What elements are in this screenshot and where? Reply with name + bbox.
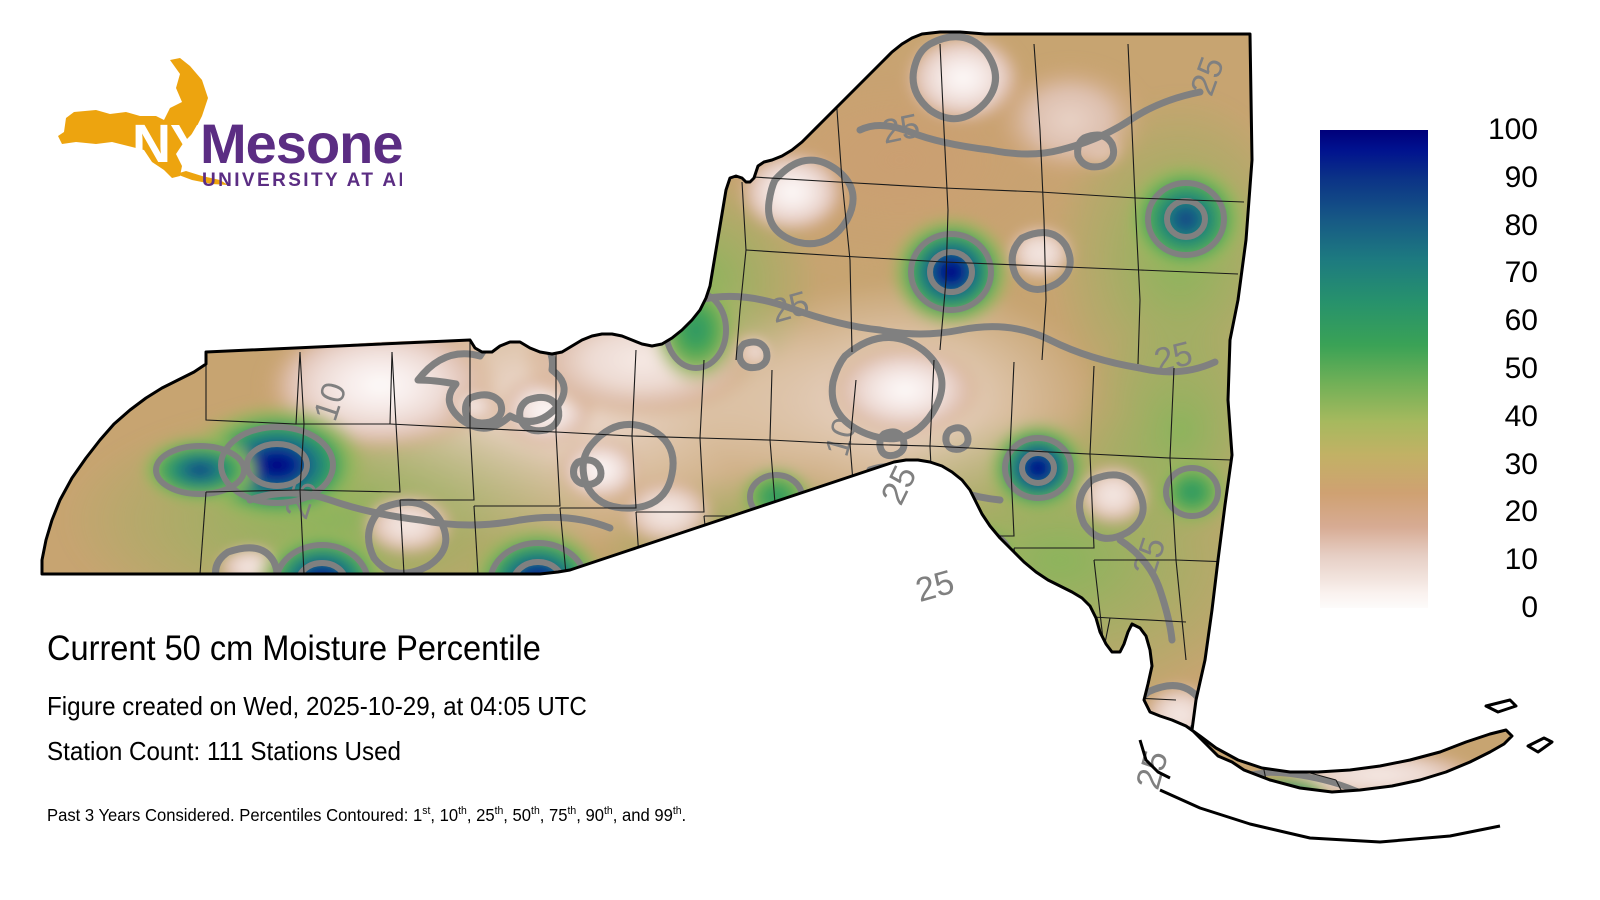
footnote-percentile-1: 1 bbox=[413, 805, 422, 825]
caption-block: Current 50 cm Moisture Percentile Figure… bbox=[47, 628, 1027, 826]
footnote-line: Past 3 Years Considered. Percentiles Con… bbox=[47, 800, 978, 826]
colorbar-tick-70: 70 bbox=[1505, 258, 1538, 288]
footnote-ordinal-st-0: st bbox=[422, 805, 430, 817]
footnote-percentile-90: 90 bbox=[585, 805, 603, 825]
footnote-ordinal-th-5: th bbox=[604, 805, 613, 817]
percentile-colorbar: 1009080706050403020100 bbox=[1320, 130, 1428, 608]
contour-label-25-0: 25 bbox=[878, 107, 923, 152]
colorbar-gradient bbox=[1320, 130, 1428, 608]
footnote-ordinal-th-3: th bbox=[531, 805, 540, 817]
contour-label-25-9: 25 bbox=[912, 563, 959, 610]
footnote-percentile-50: 50 bbox=[513, 805, 531, 825]
footnote-ordinal-th-4: th bbox=[568, 805, 577, 817]
colorbar-tick-50: 50 bbox=[1505, 354, 1538, 384]
footnote-ordinal-th-1: th bbox=[458, 805, 467, 817]
footnote-percentile-75: 75 bbox=[549, 805, 567, 825]
page-title: Current 50 cm Moisture Percentile bbox=[47, 628, 958, 670]
footnote-ordinal-th-6: th bbox=[673, 805, 682, 817]
colorbar-tick-10: 10 bbox=[1505, 545, 1538, 575]
footnote-ordinal-th-2: th bbox=[495, 805, 504, 817]
colorbar-tick-100: 100 bbox=[1488, 115, 1538, 145]
colorbar-tick-40: 40 bbox=[1505, 402, 1538, 432]
footnote-percentile-10: 10 bbox=[440, 805, 458, 825]
footnote-percentile-99: 99 bbox=[654, 805, 672, 825]
station-count-line: Station Count: 111 Stations Used bbox=[47, 729, 958, 774]
colorbar-tick-labels: 1009080706050403020100 bbox=[1430, 130, 1600, 608]
contour-label-25-10: 25 bbox=[1129, 747, 1176, 794]
colorbar-tick-80: 80 bbox=[1505, 211, 1538, 241]
footnote-percentile-25: 25 bbox=[476, 805, 494, 825]
colorbar-tick-60: 60 bbox=[1505, 306, 1538, 336]
colorbar-tick-20: 20 bbox=[1505, 497, 1538, 527]
figure-root: NYS Mesonet UNIVERSITY AT ALBANY bbox=[0, 0, 1600, 900]
colorbar-tick-0: 0 bbox=[1521, 593, 1538, 623]
colorbar-tick-30: 30 bbox=[1505, 450, 1538, 480]
figure-created-line: Figure created on Wed, 2025-10-29, at 04… bbox=[47, 684, 958, 729]
colorbar-tick-90: 90 bbox=[1505, 163, 1538, 193]
